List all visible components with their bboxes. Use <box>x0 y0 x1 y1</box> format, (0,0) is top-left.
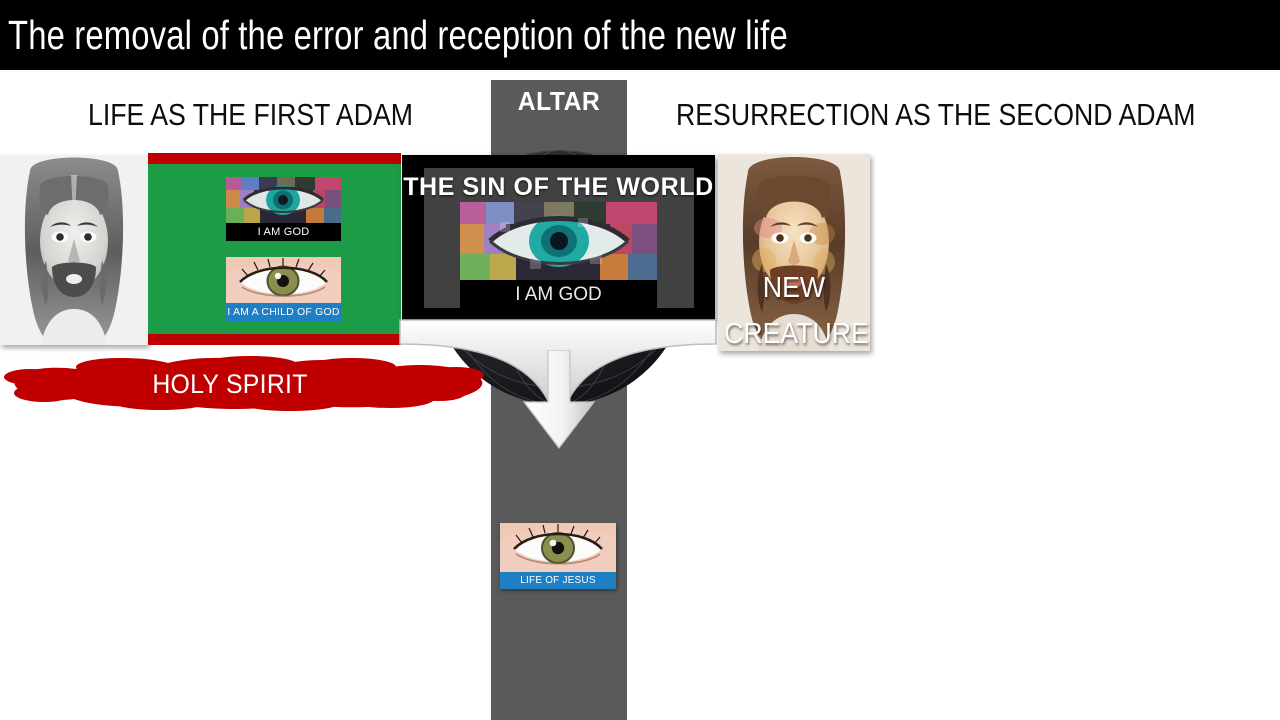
card-caption: I AM A CHILD OF GOD <box>226 303 341 321</box>
jesus-portrait-color <box>718 154 870 351</box>
title-bar: The removal of the error and reception o… <box>0 0 1280 70</box>
colorful-mosaic-eye-image <box>460 202 657 280</box>
card-caption: I AM GOD <box>226 223 341 241</box>
card-life-of-jesus: LIFE OF JESUS <box>500 523 616 589</box>
altar-label: ALTAR <box>494 84 623 118</box>
heading-life-as-first-adam: LIFE AS THE FIRST ADAM <box>88 96 413 134</box>
page-title: The removal of the error and reception o… <box>8 8 1019 62</box>
down-arrow-icon <box>520 350 598 450</box>
grayscale-jesus-icon <box>0 155 148 345</box>
sin-of-the-world-title: THE SIN OF THE WORLD <box>402 172 715 202</box>
colorful-mosaic-eye-image <box>226 177 341 223</box>
color-jesus-icon <box>718 154 870 351</box>
slide-canvas: The removal of the error and reception o… <box>0 0 1280 720</box>
card-sin-i-am-god: I AM GOD <box>460 202 657 309</box>
card-i-am-a-child-of-god: I AM A CHILD OF GOD <box>226 257 341 321</box>
card-i-am-god: I AM GOD <box>226 177 341 241</box>
card-caption: LIFE OF JESUS <box>500 572 616 589</box>
green-human-eye-image <box>226 257 341 303</box>
heading-resurrection-as-second-adam: RESURRECTION AS THE SECOND ADAM <box>676 96 1195 134</box>
green-human-eye-image <box>500 523 616 572</box>
card-caption: I AM GOD <box>460 280 657 309</box>
holy-spirit-label: HOLY SPIRIT <box>18 368 441 400</box>
jesus-portrait-grayscale <box>0 155 148 345</box>
first-adam-green-panel: I AM GOD I AM A CHILD OF GOD <box>148 153 401 345</box>
